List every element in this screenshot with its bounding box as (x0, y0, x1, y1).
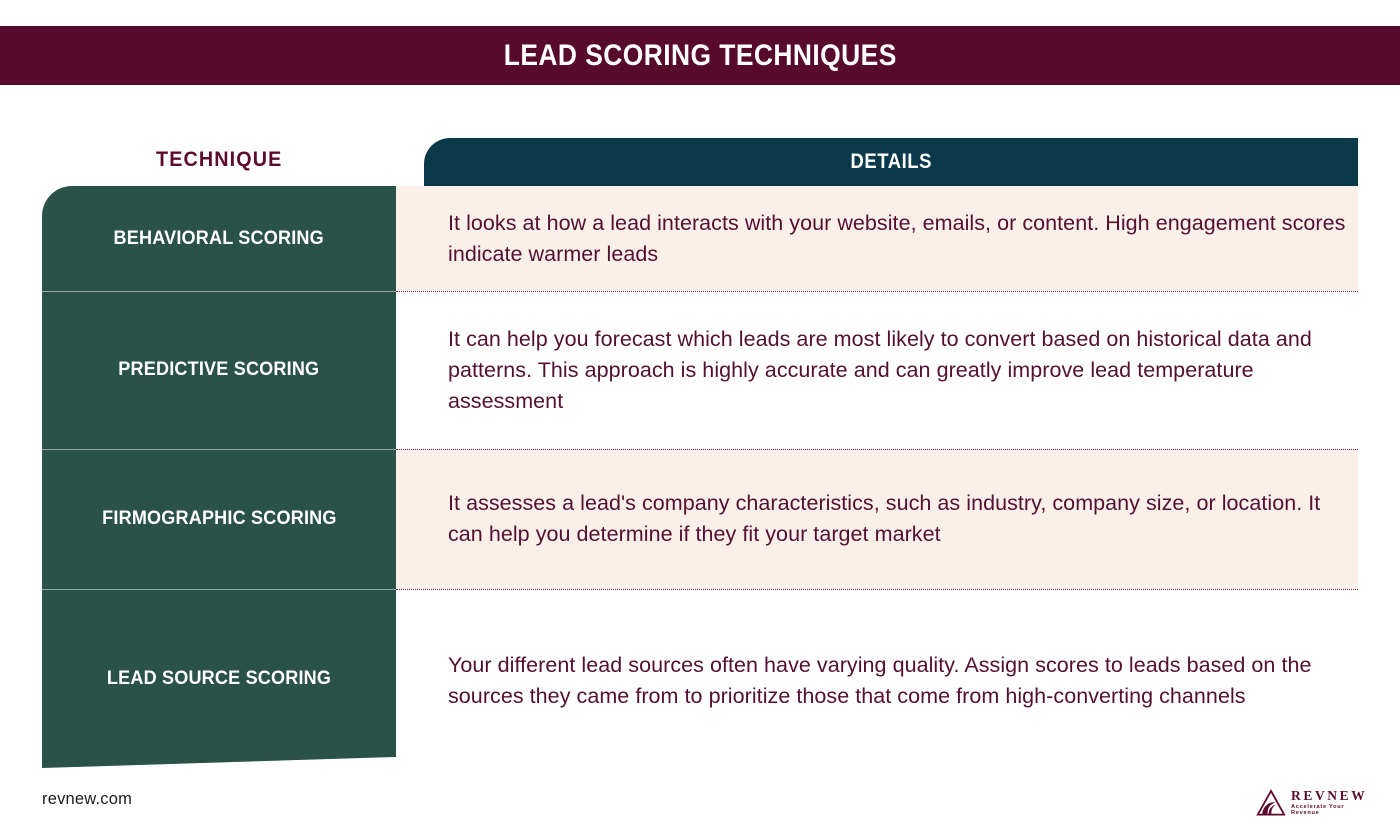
revnew-logo-name: REVNEW (1291, 789, 1368, 803)
technique-cell: FIRMOGRAPHIC SCORING (42, 449, 396, 589)
column-header-technique: TECHNIQUE (42, 142, 396, 178)
row-separator (396, 589, 1358, 590)
row-separator (396, 449, 1358, 450)
technique-divider (42, 449, 396, 450)
detail-text: It assesses a lead's company characteris… (448, 488, 1352, 550)
technique-label: BEHAVIORAL SCORING (114, 228, 324, 250)
column-header-details-label: DETAILS (850, 150, 931, 174)
detail-text: Your different lead sources often have v… (448, 650, 1352, 712)
details-column: It looks at how a lead interacts with yo… (396, 186, 1358, 772)
technique-label: PREDICTIVE SCORING (118, 359, 319, 381)
technique-cell: PREDICTIVE SCORING (42, 291, 396, 449)
revnew-logo-wordmark: REVNEW Accelerate Your Revenue (1291, 789, 1368, 816)
technique-cell: LEAD SOURCE SCORING (42, 589, 396, 768)
technique-divider (42, 291, 396, 292)
technique-label: FIRMOGRAPHIC SCORING (102, 508, 336, 530)
detail-text: It looks at how a lead interacts with yo… (448, 208, 1352, 270)
table-row: It assesses a lead's company characteris… (396, 449, 1358, 589)
page-title: LEAD SCORING TECHNIQUES (504, 39, 897, 73)
row-separator (396, 291, 1358, 292)
technique-column: BEHAVIORAL SCORING PREDICTIVE SCORING FI… (42, 186, 396, 768)
detail-text: It can help you forecast which leads are… (448, 324, 1352, 417)
column-header-technique-label: TECHNIQUE (156, 148, 282, 172)
revnew-triangle-wave-icon (1256, 789, 1286, 817)
table-row: It looks at how a lead interacts with yo… (396, 186, 1358, 291)
revnew-logo-tagline: Accelerate Your Revenue (1291, 805, 1368, 816)
technique-cell: BEHAVIORAL SCORING (42, 186, 396, 291)
revnew-logo: REVNEW Accelerate Your Revenue (1256, 786, 1368, 820)
column-header-details: DETAILS (424, 138, 1358, 186)
page-header-band: LEAD SCORING TECHNIQUES (0, 26, 1400, 85)
technique-divider (42, 589, 396, 590)
technique-label: LEAD SOURCE SCORING (107, 668, 331, 690)
table-row: Your different lead sources often have v… (396, 589, 1358, 772)
table-row: It can help you forecast which leads are… (396, 291, 1358, 449)
footer-website-url: revnew.com (42, 790, 132, 809)
